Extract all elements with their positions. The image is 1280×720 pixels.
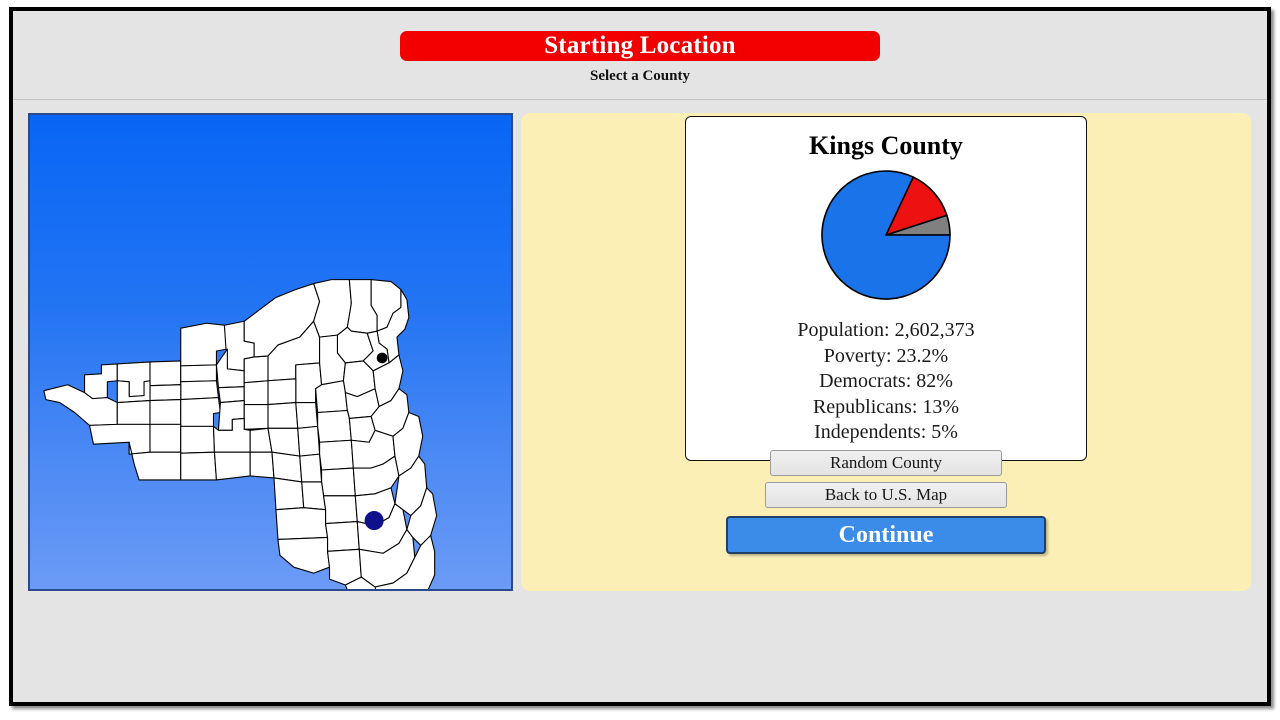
stat-republicans: Republicans: 13% (686, 395, 1086, 421)
county-stats-list: Population: 2,602,373 Poverty: 23.2% Dem… (686, 318, 1086, 446)
county-info-panel: Kings County (521, 113, 1251, 591)
stat-democrats: Democrats: 82% (686, 369, 1086, 395)
back-to-us-map-button[interactable]: Back to U.S. Map (765, 482, 1007, 508)
county-detail-card: Kings County (685, 116, 1087, 461)
party-breakdown-chart (686, 167, 1086, 308)
page-subtitle: Select a County (13, 68, 1267, 85)
stat-population: Population: 2,602,373 (686, 318, 1086, 344)
content-area: Kings County (13, 101, 1267, 702)
stat-independents: Independents: 5% (686, 420, 1086, 446)
state-capital-marker-icon (377, 353, 388, 364)
new-york-county-map-svg[interactable] (30, 115, 511, 589)
page-title-banner: Starting Location (400, 31, 880, 61)
state-map-panel[interactable] (28, 113, 513, 591)
continue-button[interactable]: Continue (726, 516, 1046, 554)
action-button-group: Random County Back to U.S. Map Continue (685, 450, 1087, 554)
selected-county-marker-icon[interactable] (365, 511, 384, 530)
stat-poverty: Poverty: 23.2% (686, 344, 1086, 370)
party-pie-chart-svg (818, 167, 954, 303)
application-window: Starting Location Select a County (9, 7, 1271, 706)
header-bar: Starting Location Select a County (13, 11, 1267, 100)
random-county-button[interactable]: Random County (770, 450, 1002, 476)
county-name-heading: Kings County (686, 131, 1086, 161)
